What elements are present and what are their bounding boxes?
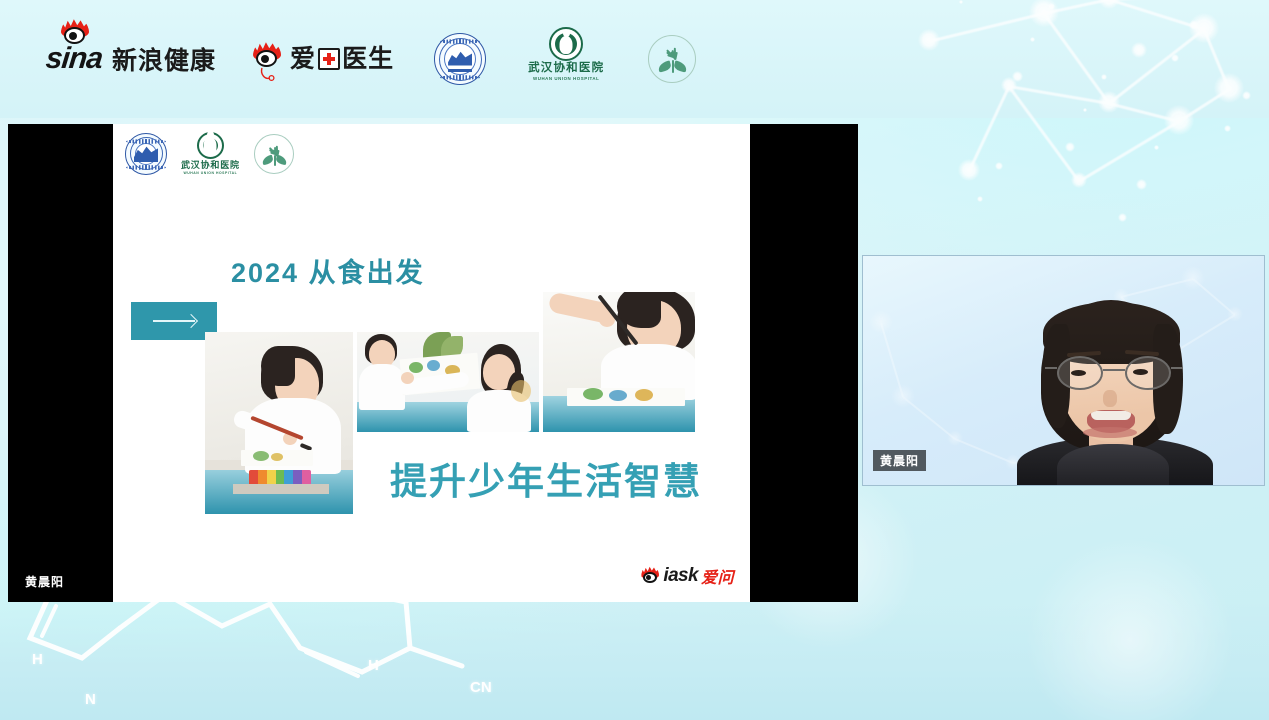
medical-cross-icon bbox=[318, 48, 340, 70]
weibo-eye-icon bbox=[640, 566, 660, 586]
logo-iask-doctor: 爱 医生 bbox=[252, 27, 394, 91]
union-hospital-cn-label: 武汉协和医院 bbox=[528, 63, 604, 75]
iask-label-b: 医生 bbox=[342, 47, 394, 72]
iask-doctor-label: 爱 医生 bbox=[290, 47, 394, 72]
webcam-video-panel[interactable]: 黄晨阳 bbox=[862, 255, 1265, 486]
sprout-icon bbox=[648, 35, 696, 83]
stethoscope-icon bbox=[259, 67, 279, 83]
slide-photo-middle bbox=[357, 332, 539, 432]
slide-logo-row: 武汉协和医院 WUHAN UNION HOSPITAL bbox=[125, 132, 294, 175]
sponsor-logo-bar: sina 新浪健康 爱 医生 bbox=[0, 0, 1269, 118]
slide-speaker-name-tag: 黄晨阳 bbox=[18, 571, 71, 592]
iask-cn-label: 爱问 bbox=[701, 564, 734, 588]
webcam-speaker-name-tag: 黄晨阳 bbox=[873, 450, 926, 471]
slide-title-bottom: 提升少年生活智慧 bbox=[390, 451, 702, 505]
sprout-icon bbox=[254, 134, 294, 174]
union-hospital-mark-icon bbox=[197, 132, 224, 159]
sina-health-label: 新浪健康 bbox=[112, 49, 216, 74]
presentation-stage[interactable]: 武汉协和医院 WUHAN UNION HOSPITAL 2024 从食出发 bbox=[8, 124, 858, 602]
logo-sprout-circle bbox=[648, 27, 696, 91]
chem-label-h1: H bbox=[32, 651, 43, 668]
iask-watermark: iask 爱问 bbox=[640, 564, 734, 588]
slide-canvas[interactable]: 武汉协和医院 WUHAN UNION HOSPITAL 2024 从食出发 bbox=[113, 124, 750, 602]
union-hospital-cn-label: 武汉协和医院 bbox=[181, 161, 240, 170]
logo-sina-health: sina 新浪健康 bbox=[48, 27, 216, 91]
chem-label-h2: H bbox=[368, 657, 379, 674]
weibo-eye-icon bbox=[252, 41, 282, 71]
logo-union-hospital: 武汉协和医院 WUHAN UNION HOSPITAL bbox=[181, 132, 240, 175]
university-seal-icon bbox=[434, 33, 486, 85]
iask-wordmark: iask bbox=[663, 565, 698, 587]
slide-photo-left bbox=[205, 332, 353, 514]
university-seal-icon bbox=[125, 133, 167, 175]
union-hospital-en-label: WUHAN UNION HOSPITAL bbox=[184, 172, 238, 175]
iask-label-a: 爱 bbox=[290, 47, 316, 72]
slide-title-top: 2024 从食出发 bbox=[231, 251, 425, 290]
chemical-structure-pattern: H N H CN bbox=[0, 586, 530, 720]
logo-hust-seal bbox=[434, 27, 486, 91]
chem-label-n: N bbox=[85, 691, 96, 708]
chem-label-cn: CN bbox=[470, 679, 492, 696]
logo-union-hospital: 武汉协和医院 WUHAN UNION HOSPITAL bbox=[528, 27, 604, 91]
speaker-video-figure bbox=[1011, 294, 1216, 486]
union-hospital-mark-icon bbox=[549, 27, 583, 61]
union-hospital-en-label: WUHAN UNION HOSPITAL bbox=[533, 77, 599, 81]
slide-photo-right bbox=[543, 292, 695, 432]
sina-wordmark: sina bbox=[44, 44, 103, 74]
